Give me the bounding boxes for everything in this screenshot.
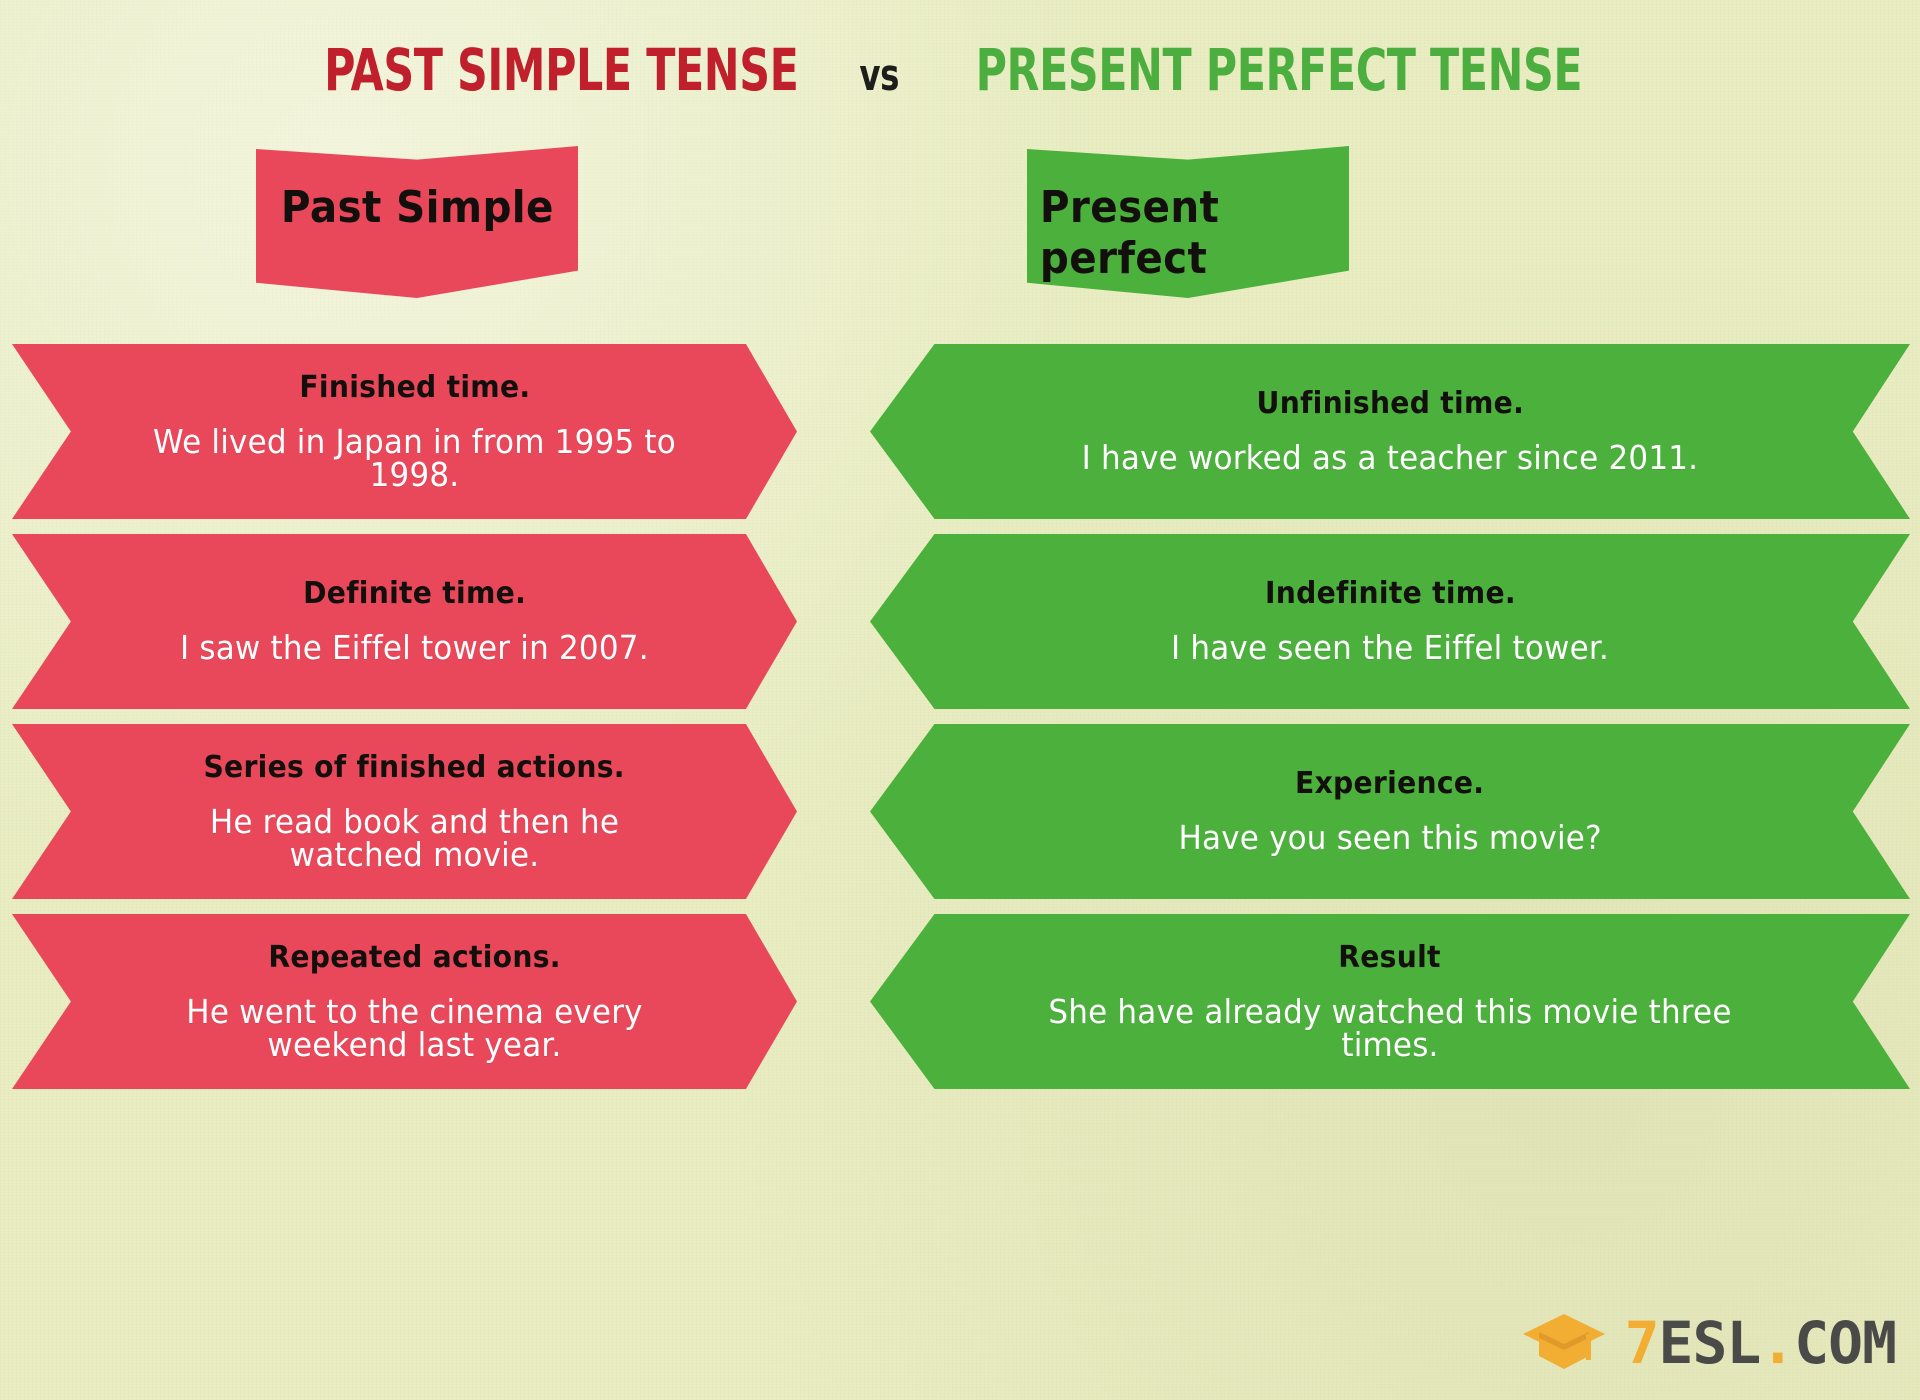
band-example: She have already watched this movie thre… <box>1005 995 1776 1061</box>
band-title: Definite time. <box>303 579 526 609</box>
band-title: Unfinished time. <box>1256 389 1524 419</box>
comparison-row: Repeated actions. He went to the cinema … <box>0 914 1920 1089</box>
present-perfect-band: Result She have already watched this mov… <box>870 914 1910 1089</box>
comparison-row: Definite time. I saw the Eiffel tower in… <box>0 534 1920 709</box>
logo-wordmark: 7 ESL . COM <box>1625 1314 1896 1372</box>
band-example: He went to the cinema every weekend last… <box>140 995 690 1061</box>
band-example: I saw the Eiffel tower in 2007. <box>180 631 649 664</box>
logo-dot: . <box>1760 1314 1794 1372</box>
band-example: I have worked as a teacher since 2011. <box>1082 441 1699 474</box>
graduation-cap-icon <box>1521 1312 1607 1374</box>
band-title: Series of finished actions. <box>204 753 625 783</box>
past-simple-band: Series of finished actions. He read book… <box>12 724 797 899</box>
column-header-present-perfect-label: Present perfect <box>1040 182 1336 284</box>
band-title: Repeated actions. <box>268 943 560 973</box>
page-title: PAST SIMPLE TENSE vs PRESENT PERFECT TEN… <box>0 36 1920 104</box>
logo-seven: 7 <box>1625 1314 1659 1372</box>
logo-com: COM <box>1794 1314 1896 1372</box>
site-logo[interactable]: 7 ESL . COM <box>1521 1304 1896 1382</box>
infographic-root: PAST SIMPLE TENSE vs PRESENT PERFECT TEN… <box>0 0 1920 1400</box>
band-example: Have you seen this movie? <box>1178 821 1601 854</box>
band-title: Finished time. <box>299 373 530 403</box>
title-present-perfect-tense: PRESENT PERFECT TENSE <box>975 36 1582 104</box>
logo-esl: ESL <box>1659 1314 1761 1372</box>
column-header-past-simple: Past Simple <box>256 146 578 298</box>
present-perfect-band: Unfinished time. I have worked as a teac… <box>870 344 1910 519</box>
past-simple-band: Finished time. We lived in Japan in from… <box>12 344 797 519</box>
past-simple-band: Repeated actions. He went to the cinema … <box>12 914 797 1089</box>
comparison-row: Series of finished actions. He read book… <box>0 724 1920 899</box>
column-header-present-perfect: Present perfect <box>1027 146 1349 298</box>
band-example: We lived in Japan in from 1995 to 1998. <box>140 425 690 491</box>
present-perfect-band: Experience. Have you seen this movie? <box>870 724 1910 899</box>
present-perfect-band: Indefinite time. I have seen the Eiffel … <box>870 534 1910 709</box>
band-title: Result <box>1339 943 1442 973</box>
band-example: He read book and then he watched movie. <box>140 805 690 871</box>
title-vs-separator: vs <box>859 50 899 101</box>
band-example: I have seen the Eiffel tower. <box>1171 631 1609 664</box>
past-simple-band: Definite time. I saw the Eiffel tower in… <box>12 534 797 709</box>
comparison-row: Finished time. We lived in Japan in from… <box>0 344 1920 519</box>
column-header-past-simple-label: Past Simple <box>280 182 553 233</box>
band-title: Experience. <box>1295 769 1484 799</box>
band-title: Indefinite time. <box>1265 579 1516 609</box>
title-past-simple-tense: PAST SIMPLE TENSE <box>324 36 798 104</box>
